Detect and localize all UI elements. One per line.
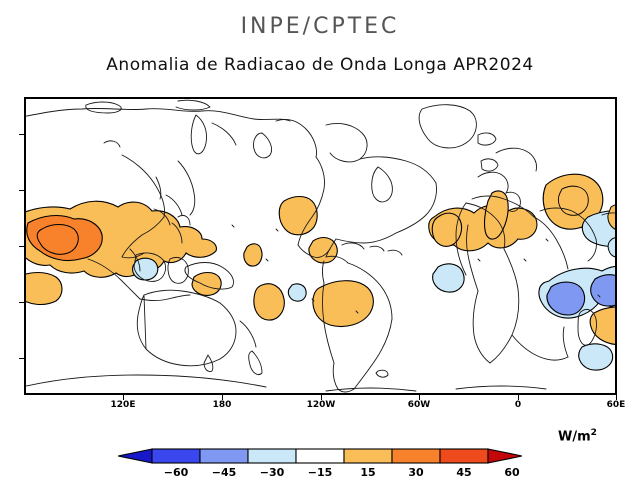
colorbar-label-60: 60: [504, 466, 519, 479]
colorbar-label-minus30: −30: [260, 466, 285, 479]
anomaly-positive-central-america: [309, 238, 337, 263]
colorbar: −60−45−30−1515304560: [118, 448, 522, 464]
units-label: W/m2: [558, 428, 597, 444]
colorbar-label-minus45: −45: [212, 466, 237, 479]
ytick-30S: [19, 302, 24, 303]
ytick-30N: [19, 190, 24, 191]
xlabel-180: 180: [213, 400, 232, 410]
anomaly-shading: [26, 174, 617, 370]
units-text: W/m: [558, 429, 591, 444]
colorbar-label-30: 30: [408, 466, 423, 479]
colorbar-swatches: [118, 448, 522, 464]
map-plot-area: 60N 30N EQ 30S 60S 120E 180 120W 60W 0 6…: [24, 97, 617, 395]
colorbar-band-4: [344, 449, 392, 463]
anomaly-negative-southpacific: [288, 284, 306, 301]
institute-title: INPE/CPTEC: [0, 14, 640, 39]
page-title: Anomalia de Radiacao de Onda Longa APR20…: [0, 55, 640, 75]
xlabel-0: 0: [515, 400, 521, 410]
anomaly-positive-mozambique: [590, 307, 617, 345]
anomaly-positive-southpacific-1: [192, 273, 221, 296]
units-exponent: 2: [591, 428, 597, 438]
plot-frame: [24, 97, 617, 395]
colorbar-band-0: [152, 449, 200, 463]
anomaly-negative-papua: [133, 258, 158, 280]
anomaly-positive-arabia-inner: [558, 186, 588, 215]
colorbar-band-2: [248, 449, 296, 463]
ytick-EQ: [19, 246, 24, 247]
colorbar-band-5: [392, 449, 440, 463]
xlabel-120W: 120W: [307, 400, 336, 410]
anomaly-positive-west-africa: [432, 213, 461, 246]
anomaly-positive-indian-east: [26, 273, 62, 305]
ytick-60N: [19, 134, 24, 135]
colorbar-band-6: [440, 449, 488, 463]
xlabel-60E: 60E: [607, 400, 626, 410]
anomaly-negative-south-atlantic: [433, 264, 464, 292]
colorbar-band-over: [488, 449, 522, 463]
anomaly-positive-southpacific-2: [254, 284, 284, 320]
xlabel-120E: 120E: [111, 400, 136, 410]
anomaly-positive-mexico: [279, 197, 317, 235]
chart-canvas: INPE/CPTEC Anomalia de Radiacao de Onda …: [0, 0, 640, 494]
colorbar-band-1: [200, 449, 248, 463]
anomaly-negative-south-madagascar: [579, 344, 613, 370]
colorbar-band-3: [296, 449, 344, 463]
colorbar-label-45: 45: [456, 466, 471, 479]
colorbar-label-minus15: −15: [308, 466, 333, 479]
world-map-anomaly-field: [26, 99, 617, 395]
anomaly-positive-east-pacific: [313, 281, 373, 327]
colorbar-label-15: 15: [360, 466, 375, 479]
ytick-60S: [19, 358, 24, 359]
xlabel-60W: 60W: [408, 400, 430, 410]
colorbar-label-minus60: −60: [164, 466, 189, 479]
colorbar-band-under: [118, 449, 152, 463]
anomaly-positive-equatorial-pacific: [244, 244, 262, 266]
